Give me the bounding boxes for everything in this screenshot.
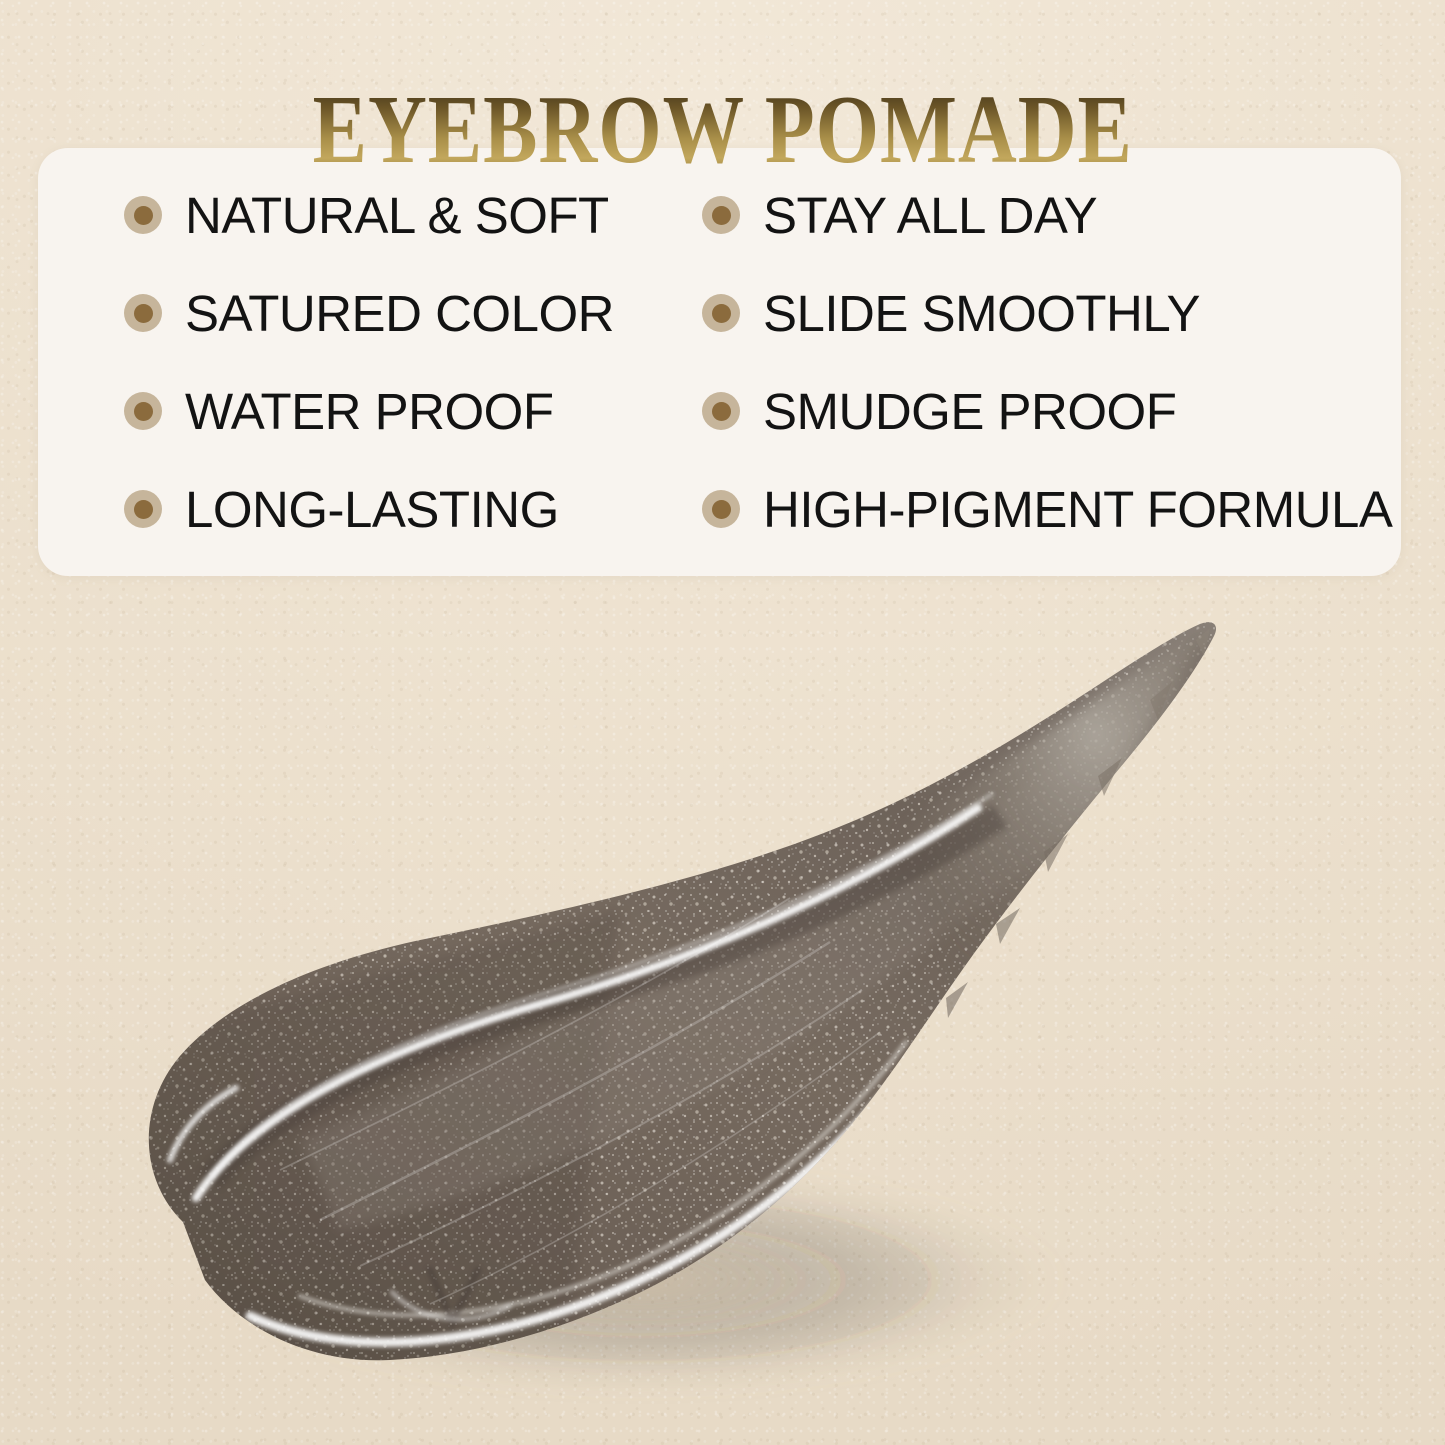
feature-item-satured-color: SATURED COLOR [124, 288, 702, 339]
pomade-swatch-image [0, 580, 1445, 1445]
bullet-dot-icon [124, 490, 162, 528]
page-title-container: EYEBROW POMADE [0, 26, 1445, 223]
product-feature-poster: EYEBROW POMADE NATURAL & SOFT STAY ALL D… [0, 0, 1445, 1445]
bullet-core-icon [712, 304, 731, 323]
swatch-tip-feather [900, 620, 1215, 1000]
bullet-dot-icon [702, 392, 740, 430]
bullet-dot-icon [702, 490, 740, 528]
feature-label: HIGH-PIGMENT FORMULA [763, 484, 1392, 535]
bullet-core-icon [712, 402, 731, 421]
bullet-core-icon [134, 402, 153, 421]
bullet-dot-icon [702, 294, 740, 332]
feature-item-water-proof: WATER PROOF [124, 386, 702, 437]
bullet-dot-icon [124, 294, 162, 332]
feature-label: SATURED COLOR [185, 288, 614, 339]
feature-item-slide-smoothly: SLIDE SMOOTHLY [702, 288, 1401, 339]
page-title: EYEBROW POMADE [312, 82, 1132, 179]
bullet-dot-icon [124, 392, 162, 430]
feature-label: LONG-LASTING [185, 484, 559, 535]
feature-item-high-pigment-formula: HIGH-PIGMENT FORMULA [702, 484, 1401, 535]
bullet-core-icon [134, 500, 153, 519]
feature-label: SLIDE SMOOTHLY [763, 288, 1200, 339]
feature-label: SMUDGE PROOF [763, 386, 1176, 437]
pomade-swatch-stage [0, 580, 1445, 1445]
feature-item-long-lasting: LONG-LASTING [124, 484, 702, 535]
feature-label: WATER PROOF [185, 386, 553, 437]
bullet-core-icon [712, 500, 731, 519]
feature-item-smudge-proof: SMUDGE PROOF [702, 386, 1401, 437]
bullet-core-icon [134, 304, 153, 323]
